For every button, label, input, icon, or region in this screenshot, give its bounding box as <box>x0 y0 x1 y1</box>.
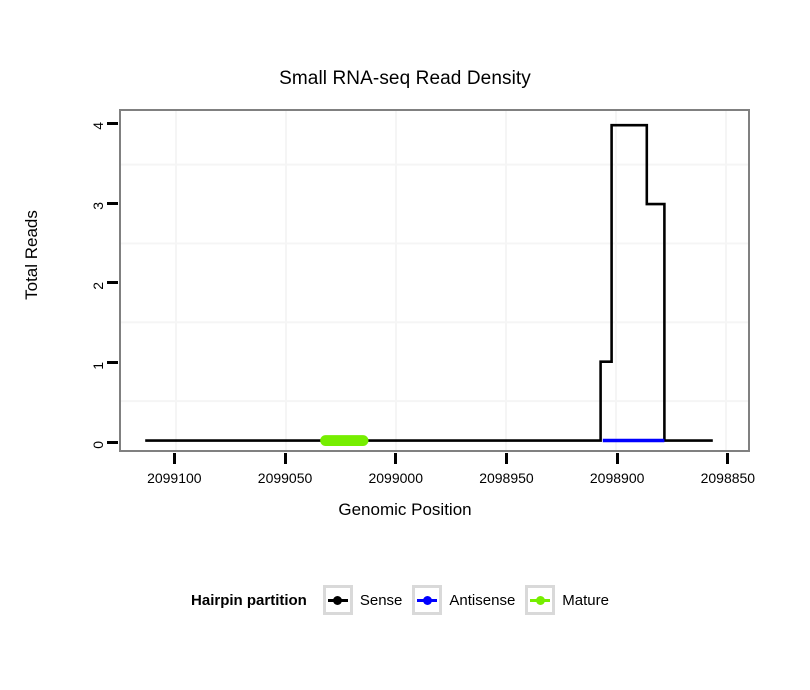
legend-key-icon <box>323 585 353 615</box>
y-axis-tick-label: 2 <box>90 282 106 308</box>
y-axis-tick <box>107 202 118 205</box>
legend-item-label: Antisense <box>449 592 515 609</box>
y-axis-tick <box>107 441 118 444</box>
y-axis-title: Total Reads <box>22 155 42 355</box>
y-axis-tick <box>107 281 118 284</box>
legend-item-antisense[interactable]: Antisense <box>412 585 515 615</box>
x-axis-tick <box>394 453 397 464</box>
data-series-layer <box>121 111 748 450</box>
x-axis-tick-label: 2098950 <box>451 470 561 486</box>
legend-dot-icon <box>423 596 432 605</box>
x-axis-title: Genomic Position <box>0 500 810 520</box>
legend-item-label: Mature <box>562 592 609 609</box>
y-axis-tick-label: 4 <box>90 122 106 148</box>
legend-item-label: Sense <box>360 592 403 609</box>
legend-dot-icon <box>536 596 545 605</box>
x-axis-tick <box>616 453 619 464</box>
legend-entries: SenseAntisenseMature <box>323 585 619 615</box>
x-axis-tick-label: 2098850 <box>673 470 783 486</box>
y-axis-tick-label: 3 <box>90 202 106 228</box>
x-axis-tick-label: 2098900 <box>562 470 672 486</box>
x-axis-tick-label: 2099050 <box>230 470 340 486</box>
x-axis-tick-label: 2099100 <box>119 470 229 486</box>
x-axis-tick <box>505 453 508 464</box>
legend-title: Hairpin partition <box>191 592 307 609</box>
y-axis-tick-label: 1 <box>90 362 106 388</box>
x-axis-tick <box>173 453 176 464</box>
plot-panel <box>119 109 750 452</box>
legend-key-icon <box>525 585 555 615</box>
x-axis-tick <box>726 453 729 464</box>
legend-item-mature[interactable]: Mature <box>525 585 609 615</box>
x-axis-tick-label: 2099000 <box>341 470 451 486</box>
legend-dot-icon <box>333 596 342 605</box>
x-axis-tick <box>284 453 287 464</box>
y-axis-tick <box>107 122 118 125</box>
y-axis-tick-label: 0 <box>90 441 106 467</box>
legend-item-sense[interactable]: Sense <box>323 585 403 615</box>
chart-title: Small RNA-seq Read Density <box>0 68 810 90</box>
y-axis-tick <box>107 361 118 364</box>
legend-key-icon <box>412 585 442 615</box>
legend: Hairpin partition SenseAntisenseMature <box>0 585 810 615</box>
